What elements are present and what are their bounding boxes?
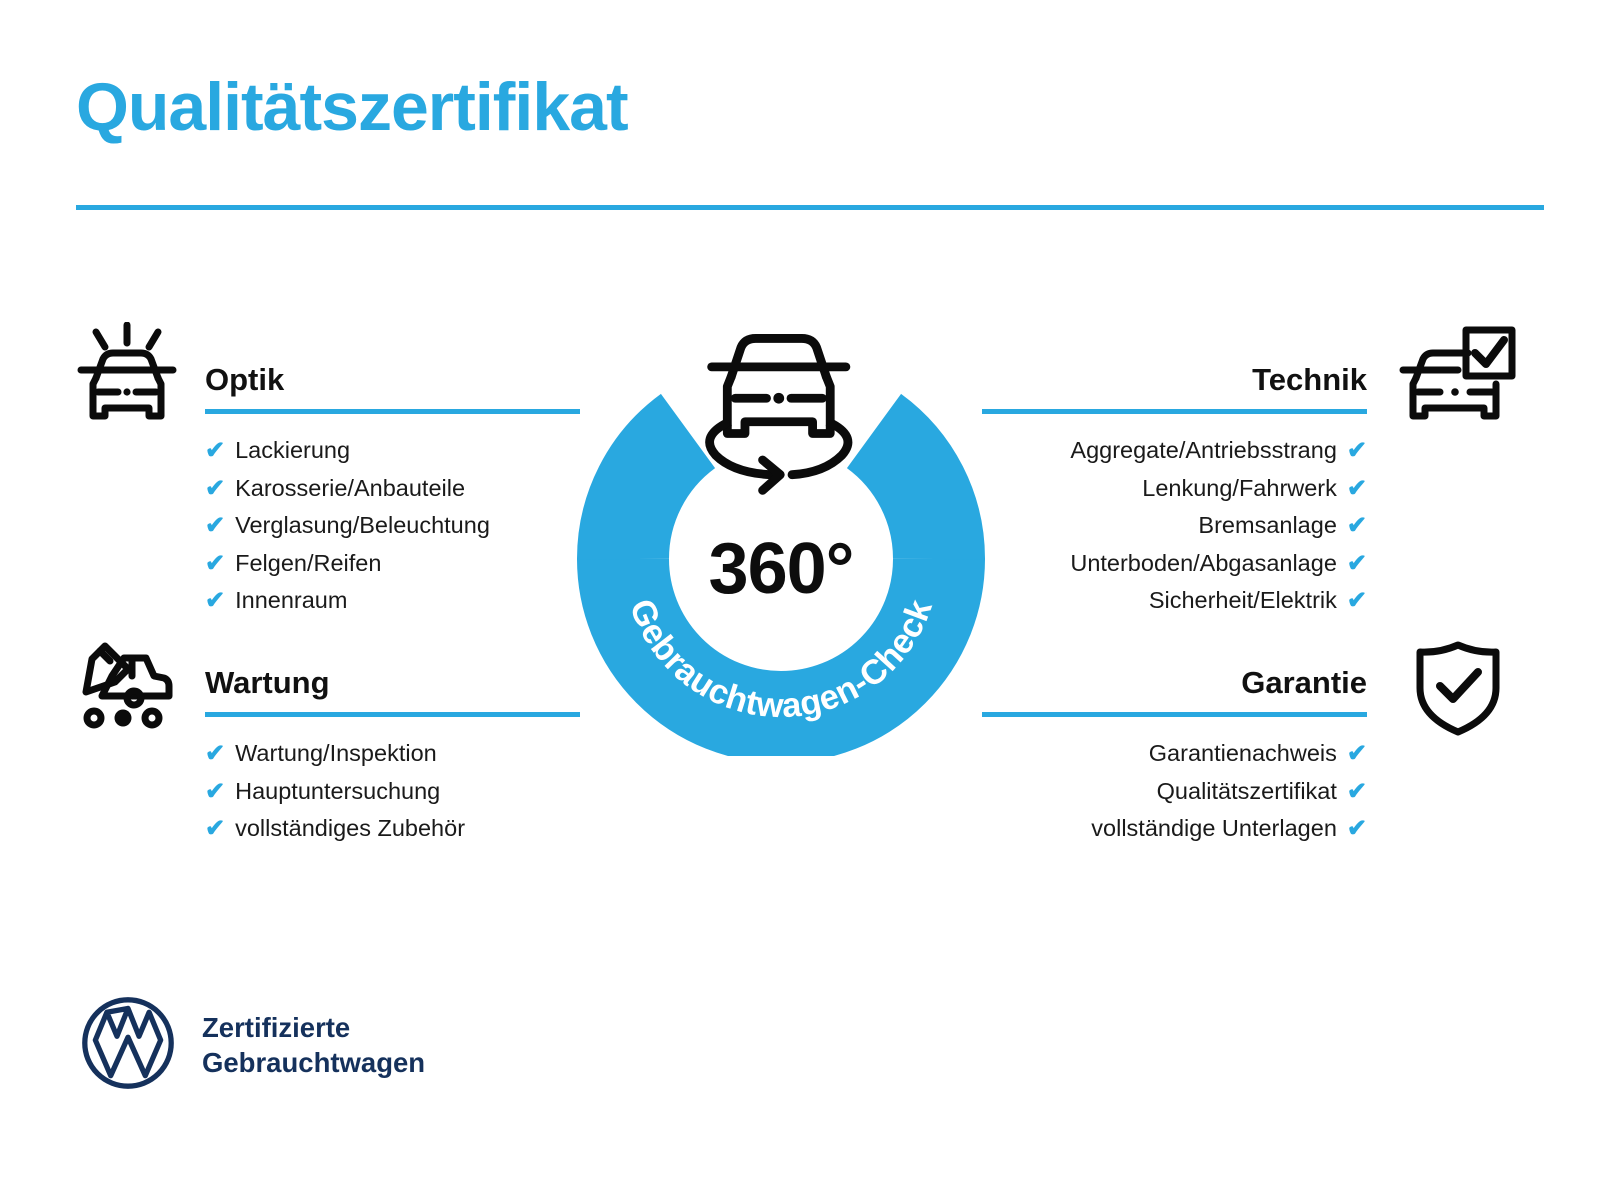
check-icon: ✔ xyxy=(205,740,225,767)
list-item-label: Unterboden/Abgasanlage xyxy=(1070,550,1337,576)
check-icon: ✔ xyxy=(1347,550,1367,577)
list-item-label: Garantienachweis xyxy=(1149,740,1337,766)
list-item: ✔Felgen/Reifen xyxy=(205,545,580,583)
list-item-label: Wartung/Inspektion xyxy=(235,740,437,766)
section-wartung-header: Wartung xyxy=(205,655,580,717)
section-garantie: Garantie Garantienachweis✔ Qualitätszert… xyxy=(982,655,1367,848)
footer-logo-text: Zertifizierte Gebrauchtwagen xyxy=(202,1011,425,1079)
section-garantie-title: Garantie xyxy=(1241,665,1367,701)
check-icon: ✔ xyxy=(205,475,225,502)
section-technik-title: Technik xyxy=(1252,362,1367,398)
check-icon: ✔ xyxy=(205,815,225,842)
list-item-label: Karosserie/Anbauteile xyxy=(235,475,465,501)
section-optik-list: ✔Lackierung ✔Karosserie/Anbauteile ✔Verg… xyxy=(205,432,580,620)
list-item-label: Felgen/Reifen xyxy=(235,550,381,576)
list-item: Garantienachweis✔ xyxy=(982,735,1367,773)
list-item: vollständige Unterlagen✔ xyxy=(982,810,1367,848)
check-icon: ✔ xyxy=(1347,815,1367,842)
list-item-label: Verglasung/Beleuchtung xyxy=(235,512,490,538)
list-item-label: Bremsanlage xyxy=(1198,512,1336,538)
list-item: ✔Karosserie/Anbauteile xyxy=(205,470,580,508)
section-technik-list: Aggregate/Antriebsstrang✔ Lenkung/Fahrwe… xyxy=(982,432,1367,620)
list-item: Unterboden/Abgasanlage✔ xyxy=(982,545,1367,583)
list-item-label: Lackierung xyxy=(235,437,350,463)
list-item: ✔vollständiges Zubehör xyxy=(205,810,580,848)
list-item-label: Sicherheit/Elektrik xyxy=(1149,587,1337,613)
section-garantie-underline xyxy=(982,712,1367,717)
list-item: ✔Hauptuntersuchung xyxy=(205,773,580,811)
list-item-label: vollständiges Zubehör xyxy=(235,815,465,841)
check-icon: ✔ xyxy=(205,512,225,539)
list-item-label: Qualitätszertifikat xyxy=(1157,778,1337,804)
check-icon: ✔ xyxy=(1347,587,1367,614)
section-optik: Optik ✔Lackierung ✔Karosserie/Anbauteile… xyxy=(205,352,580,620)
check-icon: ✔ xyxy=(1347,778,1367,805)
section-optik-title: Optik xyxy=(205,362,284,398)
check-icon: ✔ xyxy=(1347,512,1367,539)
list-item: Sicherheit/Elektrik✔ xyxy=(982,582,1367,620)
list-item: ✔Lackierung xyxy=(205,432,580,470)
shield-check-icon xyxy=(1410,638,1506,743)
header-divider xyxy=(76,205,1544,210)
section-wartung-title: Wartung xyxy=(205,665,330,701)
badge-360-gebrauchtwagen-check: Gebrauchtwagen-Check 360° xyxy=(566,306,996,756)
list-item: Aggregate/Antriebsstrang✔ xyxy=(982,432,1367,470)
list-item: Qualitätszertifikat✔ xyxy=(982,773,1367,811)
section-wartung: Wartung ✔Wartung/Inspektion ✔Hauptunters… xyxy=(205,655,580,848)
list-item-label: Hauptuntersuchung xyxy=(235,778,440,804)
check-icon: ✔ xyxy=(205,437,225,464)
list-item: ✔Wartung/Inspektion xyxy=(205,735,580,773)
section-garantie-list: Garantienachweis✔ Qualitätszertifikat✔ v… xyxy=(982,735,1367,848)
section-optik-underline xyxy=(205,409,580,414)
check-icon: ✔ xyxy=(1347,740,1367,767)
volkswagen-logo xyxy=(80,995,176,1096)
list-item: ✔Verglasung/Beleuchtung xyxy=(205,507,580,545)
list-item: ✔Innenraum xyxy=(205,582,580,620)
list-item: Bremsanlage✔ xyxy=(982,507,1367,545)
list-item-label: Innenraum xyxy=(235,587,347,613)
list-item: Lenkung/Fahrwerk✔ xyxy=(982,470,1367,508)
section-garantie-header: Garantie xyxy=(982,655,1367,717)
section-wartung-list: ✔Wartung/Inspektion ✔Hauptuntersuchung ✔… xyxy=(205,735,580,848)
list-item-label: Aggregate/Antriebsstrang xyxy=(1070,437,1337,463)
list-item-label: Lenkung/Fahrwerk xyxy=(1142,475,1337,501)
check-icon: ✔ xyxy=(205,778,225,805)
section-technik-header: Technik xyxy=(982,352,1367,414)
pen-car-service-icon xyxy=(72,636,182,736)
check-icon: ✔ xyxy=(205,550,225,577)
car-front-shine-icon xyxy=(72,322,182,427)
footer-logo-lockup: Zertifizierte Gebrauchtwagen xyxy=(80,995,425,1096)
section-technik-underline xyxy=(982,409,1367,414)
page-title: Qualitätszertifikat xyxy=(76,72,628,143)
check-icon: ✔ xyxy=(205,587,225,614)
list-item-label: vollständige Unterlagen xyxy=(1091,815,1337,841)
car-front-checkbox-icon xyxy=(1398,322,1518,427)
section-technik: Technik Aggregate/Antriebsstrang✔ Lenkun… xyxy=(982,352,1367,620)
check-icon: ✔ xyxy=(1347,475,1367,502)
car-rotate-360-icon xyxy=(710,338,848,490)
section-wartung-underline xyxy=(205,712,580,717)
section-optik-header: Optik xyxy=(205,352,580,414)
check-icon: ✔ xyxy=(1347,437,1367,464)
